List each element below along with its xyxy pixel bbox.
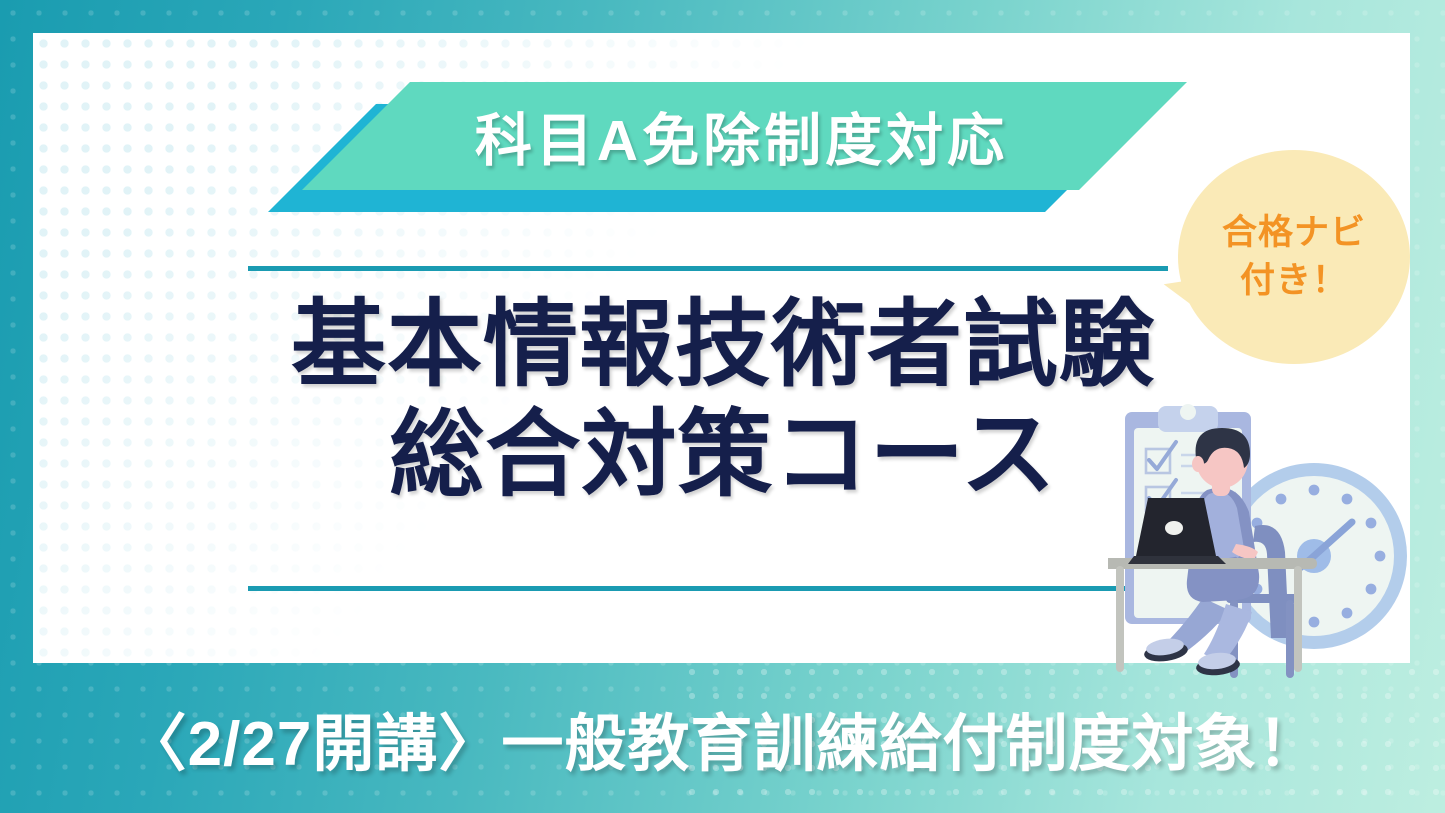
promo-poster: 科目A免除制度対応 基本情報技術者試験 総合対策コース 合格ナビ 付き！ — [0, 0, 1445, 813]
title-rule-top — [248, 266, 1168, 271]
footer-banner: 〈2/27開講〉一般教育訓練給付制度対象！ — [0, 663, 1445, 813]
badge-label-line-2: 付き！ — [1240, 257, 1348, 305]
ribbon-main-layer: 科目A免除制度対応 — [302, 82, 1187, 190]
ribbon-label: 科目A免除制度対応 — [475, 95, 1014, 177]
page-title-line-2: 総合対策コース — [248, 400, 1198, 510]
badge-label-line-1: 合格ナビ — [1222, 209, 1366, 257]
status-badge: 合格ナビ 付き！ — [1178, 150, 1410, 364]
page-title-line-1: 基本情報技術者試験 — [248, 290, 1198, 400]
page-title: 基本情報技術者試験 総合対策コース — [248, 290, 1198, 510]
ribbon-banner: 科目A免除制度対応 — [268, 82, 1188, 212]
title-rule-bottom — [248, 586, 1168, 591]
footer-label: 〈2/27開講〉一般教育訓練給付制度対象！ — [125, 693, 1321, 783]
